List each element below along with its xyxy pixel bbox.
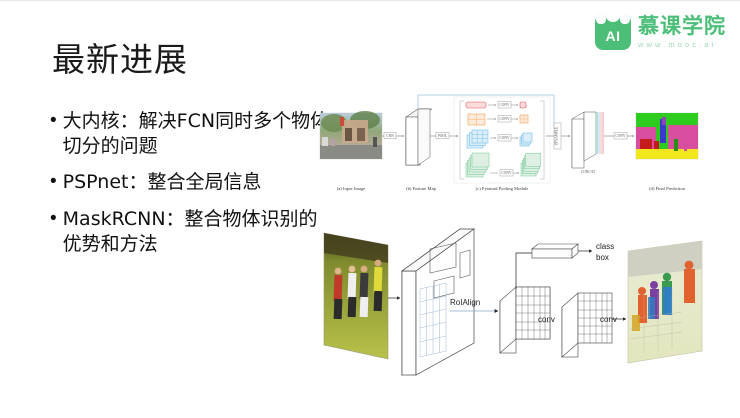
brand-logo: AI 慕课学院 www.mooc.ai [595,14,726,50]
pspnet-concat-label: CONCAT [581,170,596,174]
pyramid-level-3: CONV [467,130,532,148]
pyramid-level-4: CONV [466,153,541,177]
list-item: • PSPnet：整合全局信息 [50,170,330,195]
roialign-label: RoIAlign [450,298,480,307]
pspnet-cnn-label: CNN [386,134,394,138]
pspnet-pool-label: POOL [438,134,447,138]
pspnet-caption-c: (c) Pyramid Pooling Module [476,186,529,191]
maskrcnn-class-label: class [596,242,614,251]
list-item: • 大内核：解决FCN同时多个物体切分的问题 [50,109,330,158]
list-item: • MaskRCNN：整合物体识别的优势和方法 [50,207,330,256]
maskrcnn-input-photo [324,233,388,359]
pyramid-level-2: CONV [468,114,528,125]
pspnet-figure: CNN POOL [318,87,700,195]
pspnet-upsample-label: UPSAMPLE [555,126,559,146]
bullet-text: 大内核：解决FCN同时多个物体切分的问题 [63,109,330,158]
pspnet-final-conv-label: CONV [615,134,626,138]
bullet-text: PSPnet：整合全局信息 [63,170,262,195]
maskrcnn-figure: RoIAlign [310,223,710,387]
bullet-marker-icon: • [50,109,57,158]
maskrcnn-conv-label-2: conv [600,315,617,324]
pspnet-caption-a: (a) Input Image [337,186,366,191]
bullet-text: MaskRCNN：整合物体识别的优势和方法 [63,207,330,256]
bullet-marker-icon: • [50,207,57,256]
pyramid-conv-label-3: CONV [499,136,510,140]
pspnet-input-photo [320,111,382,159]
bullet-list: • 大内核：解决FCN同时多个物体切分的问题 • PSPnet：整合全局信息 •… [50,109,330,268]
pyramid-conv-label-4: CONV [501,171,512,175]
maskrcnn-box-label: box [596,253,609,262]
maskrcnn-head-block-2 [562,293,612,357]
pspnet-output-segmentation [636,113,698,159]
logo-mark-text: AI [606,29,621,50]
pyramid-level-1: CONV [466,102,526,109]
pspnet-caption-d: (d) Final Prediction [649,186,686,191]
logo-text-group: 慕课学院 www.mooc.ai [638,14,726,49]
book-notch-shape [605,14,621,22]
maskrcnn-fc-vector [532,244,578,258]
maskrcnn-output-segmentation [628,241,702,363]
pyramid-conv-label-1: CONV [499,103,510,107]
maskrcnn-conv-label-1: conv [538,315,555,324]
pyramid-conv-label-2: CONV [499,117,510,121]
pspnet-concat-block [572,112,604,168]
brand-url: www.mooc.ai [638,40,726,49]
pspnet-caption-b: (b) Feature Map [406,186,437,191]
mooc-ai-book-icon: AI [595,14,631,50]
slide-canvas: AI 慕课学院 www.mooc.ai 最新进展 • 大内核：解决FCN同时多个… [0,0,740,418]
brand-name-cn: 慕课学院 [638,15,726,37]
bullet-marker-icon: • [50,170,57,195]
pspnet-feature-map-block [406,109,432,165]
page-title: 最新进展 [52,33,188,81]
